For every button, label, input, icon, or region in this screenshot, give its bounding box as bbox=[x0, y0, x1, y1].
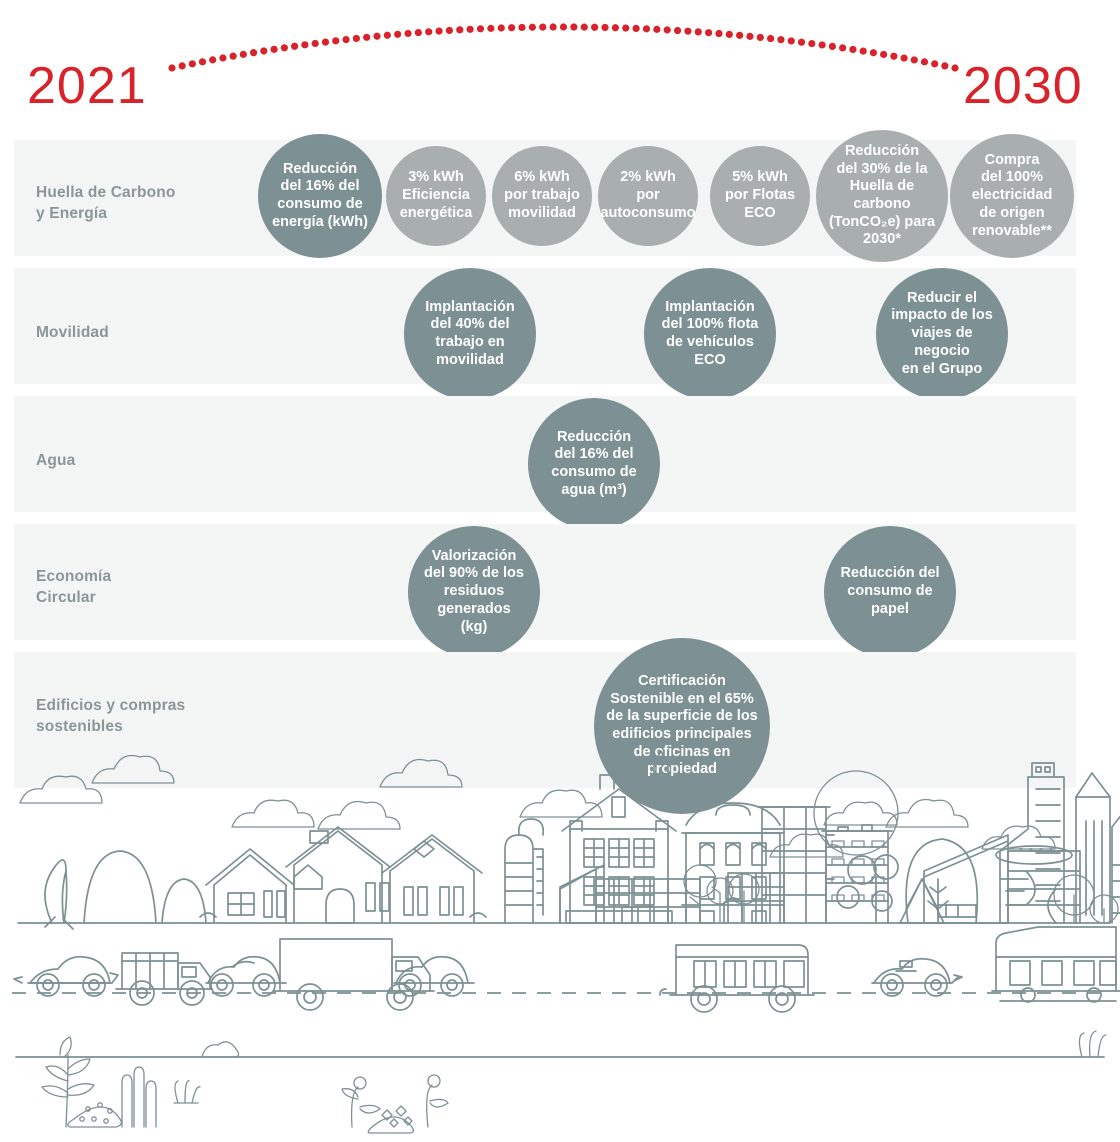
objective-bubble-1-2[interactable]: 3% kWh Eficiencia energética bbox=[386, 146, 486, 246]
objective-bubble-text: 5% kWh por Flotas ECO bbox=[719, 169, 801, 222]
category-label-1: Huella de Carbono y Energía bbox=[36, 182, 175, 225]
objective-bubble-text: Reducción del 16% del consumo de energía… bbox=[266, 161, 374, 232]
objective-bubble-text: Reducir el impacto de los viajes de nego… bbox=[876, 290, 1008, 378]
objective-bubble-text: Valorización del 90% de los residuos gen… bbox=[418, 548, 530, 636]
objective-bubble-1-3[interactable]: 6% kWh por trabajo movilidad bbox=[492, 146, 592, 246]
category-label-5: Edificios y compras sostenibles bbox=[36, 695, 185, 738]
category-label-4: Economía Circular bbox=[36, 566, 111, 609]
objectives-matrix: Huella de Carbono y EnergíaReducción del… bbox=[0, 0, 1120, 800]
category-label-2: Movilidad bbox=[36, 322, 109, 343]
objective-bubble-2-1[interactable]: Implantación del 40% del trabajo en movi… bbox=[404, 268, 536, 400]
objective-bubble-4-1[interactable]: Valorización del 90% de los residuos gen… bbox=[408, 526, 540, 658]
objective-bubble-text: 2% kWh por autoconsumo bbox=[594, 169, 701, 222]
objective-bubble-text: Implantación del 100% flota de vehículos… bbox=[656, 299, 765, 370]
objective-bubble-text: Reducción del 16% del consumo de agua (m… bbox=[545, 429, 642, 500]
objective-bubble-1-7[interactable]: Compra del 100% electricidad de origen r… bbox=[950, 134, 1074, 258]
objective-bubble-2-2[interactable]: Implantación del 100% flota de vehículos… bbox=[644, 268, 776, 400]
objective-bubble-3-1[interactable]: Reducción del 16% del consumo de agua (m… bbox=[528, 398, 660, 530]
objective-bubble-4-2[interactable]: Reducción del consumo de papel bbox=[824, 526, 956, 658]
objective-bubble-text: Reducción del 30% de la Huella de carbon… bbox=[816, 143, 948, 249]
objective-bubble-text: Implantación del 40% del trabajo en movi… bbox=[419, 299, 520, 370]
objective-bubble-1-5[interactable]: 5% kWh por Flotas ECO bbox=[710, 146, 810, 246]
objective-bubble-1-4[interactable]: 2% kWh por autoconsumo bbox=[598, 146, 698, 246]
category-label-3: Agua bbox=[36, 450, 75, 471]
objective-bubble-1-6[interactable]: Reducción del 30% de la Huella de carbon… bbox=[816, 130, 948, 262]
objective-bubble-1-1[interactable]: Reducción del 16% del consumo de energía… bbox=[258, 134, 382, 258]
objective-bubble-2-3[interactable]: Reducir el impacto de los viajes de nego… bbox=[876, 268, 1008, 400]
objective-bubble-text: Compra del 100% electricidad de origen r… bbox=[966, 152, 1059, 240]
objective-bubble-text: 3% kWh Eficiencia energética bbox=[394, 169, 479, 222]
objective-bubble-text: Reducción del consumo de papel bbox=[834, 565, 945, 618]
objective-bubble-text: 6% kWh por trabajo movilidad bbox=[498, 169, 586, 222]
sustainable-city-illustration bbox=[0, 745, 1120, 1142]
